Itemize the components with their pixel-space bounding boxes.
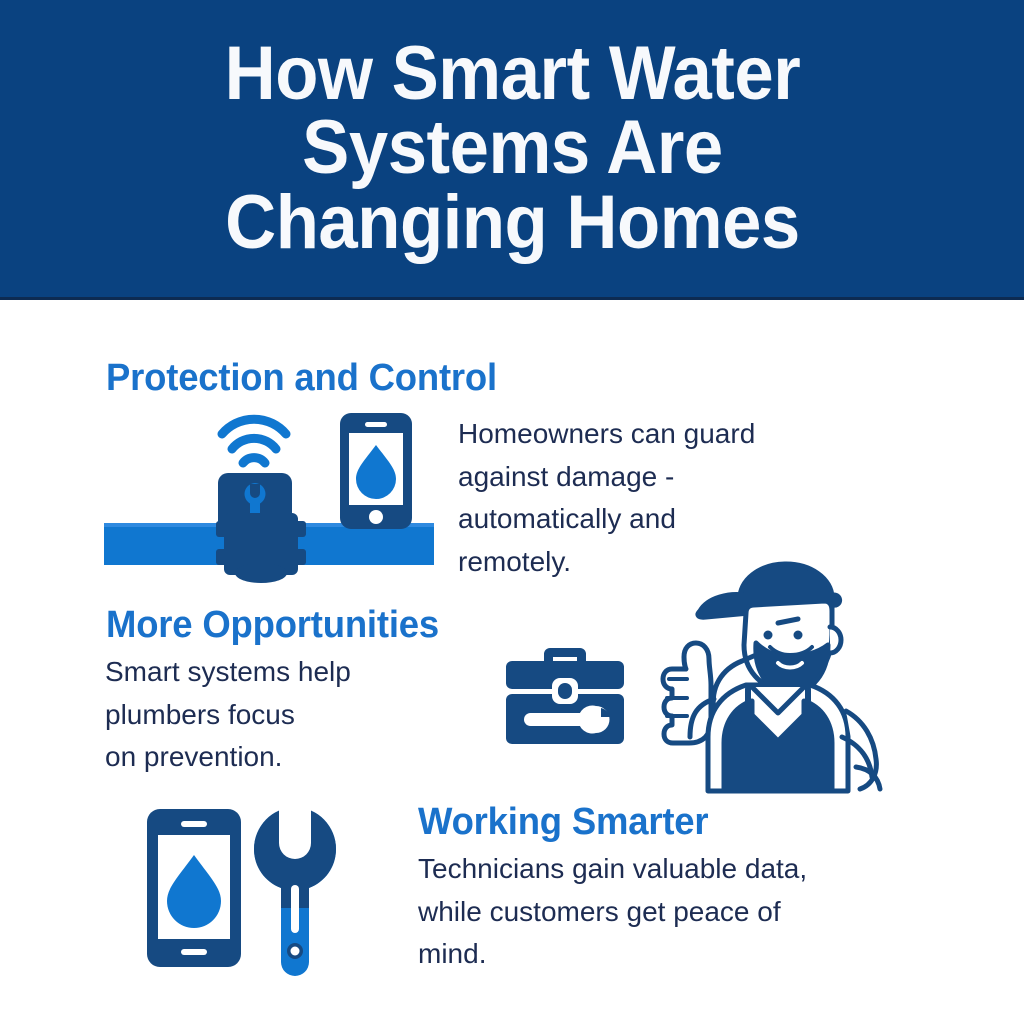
section-heading-working-smarter: Working Smarter [418, 803, 708, 841]
content-area: Protection and Control Homeowners can gu… [0, 303, 1024, 1024]
toolbox-icon [506, 648, 624, 744]
page-title: How Smart Water Systems Are Changing Hom… [187, 37, 837, 260]
infographic-canvas: How Smart Water Systems Are Changing Hom… [0, 0, 1024, 1024]
plumber-thumbs-up-illustration [628, 551, 918, 801]
section-body-working-smarter: Technicians gain valuable data, while cu… [418, 848, 908, 976]
phone-droplet-wrench-icon [145, 803, 340, 973]
section-heading-protection-and-control: Protection and Control [106, 359, 497, 397]
valve-fitting-icon [216, 513, 306, 583]
header-band: How Smart Water Systems Are Changing Hom… [0, 0, 1024, 300]
wifi-signal-icon [222, 419, 286, 463]
smart-valve-wifi-phone-pipe-icon [104, 401, 434, 581]
section-heading-more-opportunities: More Opportunities [106, 606, 439, 644]
phone-water-droplet-icon [147, 809, 241, 967]
toolbox-wrench-icon [500, 638, 630, 748]
phone-water-droplet-icon [340, 413, 412, 529]
section-body-more-opportunities: Smart systems help plumbers focus on pre… [105, 651, 435, 779]
wrench-icon [254, 806, 336, 976]
